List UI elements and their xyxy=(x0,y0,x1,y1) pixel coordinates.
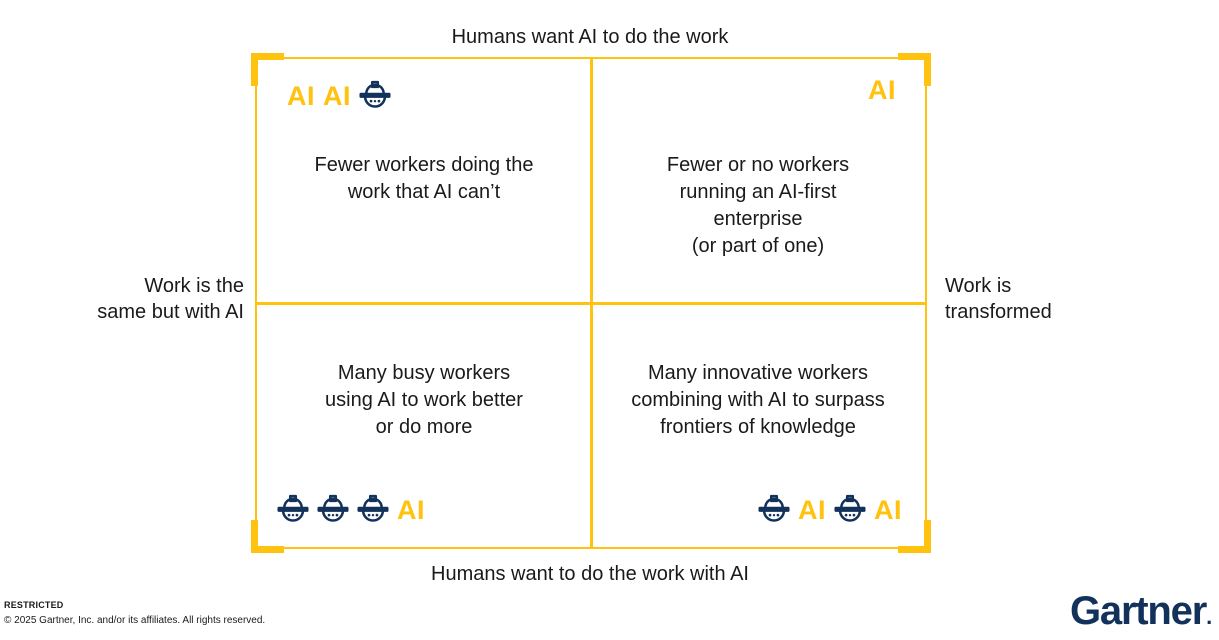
marker-row-top-left: AI AI xyxy=(284,77,394,115)
quadrant-top-left-text: Fewer workers doing the work that AI can… xyxy=(257,152,591,206)
axis-label-left-text: Work is the same but with AI xyxy=(97,275,244,323)
marker-row-top-right: AI xyxy=(865,77,899,104)
quadrant-bottom-right: Many innovative workers combining with A… xyxy=(591,303,925,547)
quadrant-top-left: AI AI Fewer workers doing the work that … xyxy=(257,59,591,303)
worker-icon xyxy=(354,491,392,529)
ai-badge: AI xyxy=(394,497,428,524)
worker-icon xyxy=(314,491,352,529)
axis-label-top: Humans want AI to do the work xyxy=(0,24,1180,50)
axis-label-right: Work is transformed xyxy=(945,273,1195,325)
ai-badge: AI xyxy=(795,497,829,524)
classification-label: RESTRICTED xyxy=(4,600,64,610)
marker-row-bottom-left: AI xyxy=(274,491,428,529)
quadrant-bottom-left-text: Many busy workers using AI to work bette… xyxy=(257,360,591,441)
gartner-logo: Gartner. xyxy=(1070,591,1211,631)
gartner-logo-mark: . xyxy=(1206,604,1211,629)
gartner-logo-text: Gartner xyxy=(1070,589,1206,633)
worker-icon xyxy=(356,77,394,115)
axis-label-left: Work is the same but with AI xyxy=(20,273,244,325)
quadrant-bottom-left: Many busy workers using AI to work bette… xyxy=(257,303,591,547)
ai-badge: AI xyxy=(284,83,318,110)
worker-icon xyxy=(831,491,869,529)
ai-badge: AI xyxy=(865,77,899,104)
quadrant-top-right: AI Fewer or no workers running an AI-fir… xyxy=(591,59,925,303)
axis-label-bottom: Humans want to do the work with AI xyxy=(0,561,1180,587)
axis-label-right-text: Work is transformed xyxy=(945,275,1052,323)
quadrant-matrix: AI AI Fewer workers doing the work that … xyxy=(255,57,927,549)
quadrant-bottom-right-text: Many innovative workers combining with A… xyxy=(591,360,925,441)
ai-badge: AI xyxy=(871,497,905,524)
copyright-text: © 2025 Gartner, Inc. and/or its affiliat… xyxy=(4,615,265,626)
marker-row-bottom-right: AI AI xyxy=(755,491,905,529)
quadrant-top-right-text: Fewer or no workers running an AI-first … xyxy=(591,152,925,260)
worker-icon xyxy=(274,491,312,529)
ai-badge: AI xyxy=(320,83,354,110)
worker-icon xyxy=(755,491,793,529)
